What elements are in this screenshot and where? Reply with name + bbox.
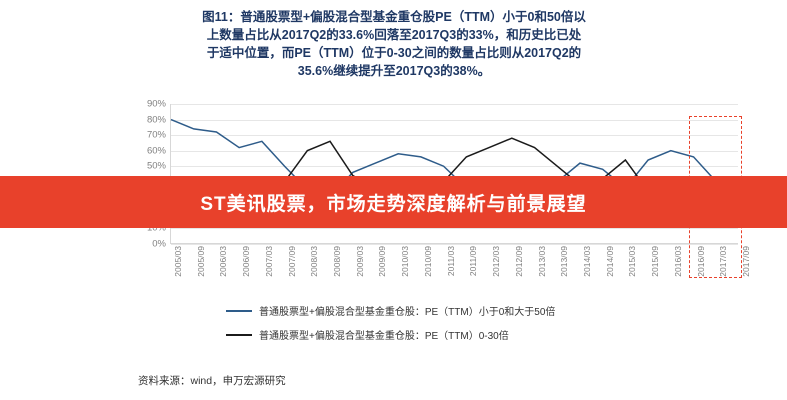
x-axis-tick: 2005/03 (173, 246, 183, 277)
x-axis-tick: 2012/09 (514, 246, 524, 277)
overlay-banner: ST美讯股票，市场走势深度解析与前景展望 (0, 176, 787, 228)
x-axis-tick: 2013/03 (537, 246, 547, 277)
x-axis-labels: 2005/032005/092006/032006/092007/032007/… (170, 246, 738, 292)
x-axis-tick: 2016/09 (696, 246, 706, 277)
x-axis-tick: 2007/09 (287, 246, 297, 277)
x-axis-tick: 2017/03 (718, 246, 728, 277)
x-axis-tick: 2005/09 (196, 246, 206, 277)
x-axis-tick: 2006/09 (241, 246, 251, 277)
x-axis-tick: 2011/03 (446, 246, 456, 276)
y-axis-tick: 0% (152, 239, 166, 250)
chart-page: 图11：普通股票型+偏股混合型基金重仓股PE（TTM）小于0和50倍以 上数量占… (0, 0, 787, 400)
x-axis-tick: 2017/09 (741, 246, 751, 277)
x-axis-tick: 2010/09 (423, 246, 433, 277)
y-axis-tick: 50% (147, 161, 166, 172)
x-axis-tick: 2009/09 (377, 246, 387, 277)
x-axis-tick: 2014/09 (605, 246, 615, 277)
x-axis-tick: 2007/03 (264, 246, 274, 277)
x-axis-tick: 2013/09 (559, 246, 569, 277)
chart-title-line-2: 上数量占比从2017Q2的33.6%回落至2017Q3的33%，和历史比已处 (160, 26, 628, 44)
chart-title-line-3: 于适中位置，而PE（TTM）位于0-30之间的数量占比则从2017Q2的 (160, 44, 628, 62)
legend-label-1: 普通股票型+偏股混合型基金重仓股：PE（TTM）0-30倍 (259, 327, 509, 342)
x-axis-tick: 2012/03 (491, 246, 501, 277)
x-axis-tick: 2006/03 (218, 246, 228, 277)
legend-item-0: 普通股票型+偏股混合型基金重仓股：PE（TTM）小于0和大于50倍 (226, 303, 656, 318)
chart-title-line-1: 图11：普通股票型+偏股混合型基金重仓股PE（TTM）小于0和50倍以 (160, 8, 628, 26)
chart-legend: 普通股票型+偏股混合型基金重仓股：PE（TTM）小于0和大于50倍 普通股票型+… (226, 303, 656, 351)
y-axis-tick: 90% (147, 99, 166, 110)
y-axis-tick: 80% (147, 114, 166, 125)
x-axis-tick: 2008/09 (332, 246, 342, 277)
x-axis-tick: 2016/03 (673, 246, 683, 277)
chart-title: 图11：普通股票型+偏股混合型基金重仓股PE（TTM）小于0和50倍以 上数量占… (160, 8, 628, 80)
y-axis-labels: 0%10%20%30%40%50%60%70%80%90% (128, 96, 166, 252)
overlay-banner-text: ST美讯股票，市场走势深度解析与前景展望 (200, 189, 586, 216)
legend-label-0: 普通股票型+偏股混合型基金重仓股：PE（TTM）小于0和大于50倍 (259, 303, 555, 318)
source-note: 资料来源：wind，申万宏源研究 (138, 373, 286, 388)
x-axis-tick: 2009/03 (355, 246, 365, 277)
legend-swatch-1 (226, 334, 252, 336)
legend-swatch-0 (226, 310, 252, 312)
legend-item-1: 普通股票型+偏股混合型基金重仓股：PE（TTM）0-30倍 (226, 327, 656, 342)
x-axis-tick: 2010/03 (400, 246, 410, 277)
x-axis-tick: 2015/03 (627, 246, 637, 277)
x-axis-tick: 2014/03 (582, 246, 592, 277)
x-axis-tick: 2011/09 (468, 246, 478, 276)
chart-title-line-4: 35.6%继续提升至2017Q3的38%。 (160, 62, 628, 80)
x-axis-tick: 2015/09 (650, 246, 660, 277)
y-axis-tick: 60% (147, 145, 166, 156)
x-axis-tick: 2008/03 (309, 246, 319, 277)
y-axis-tick: 70% (147, 130, 166, 141)
